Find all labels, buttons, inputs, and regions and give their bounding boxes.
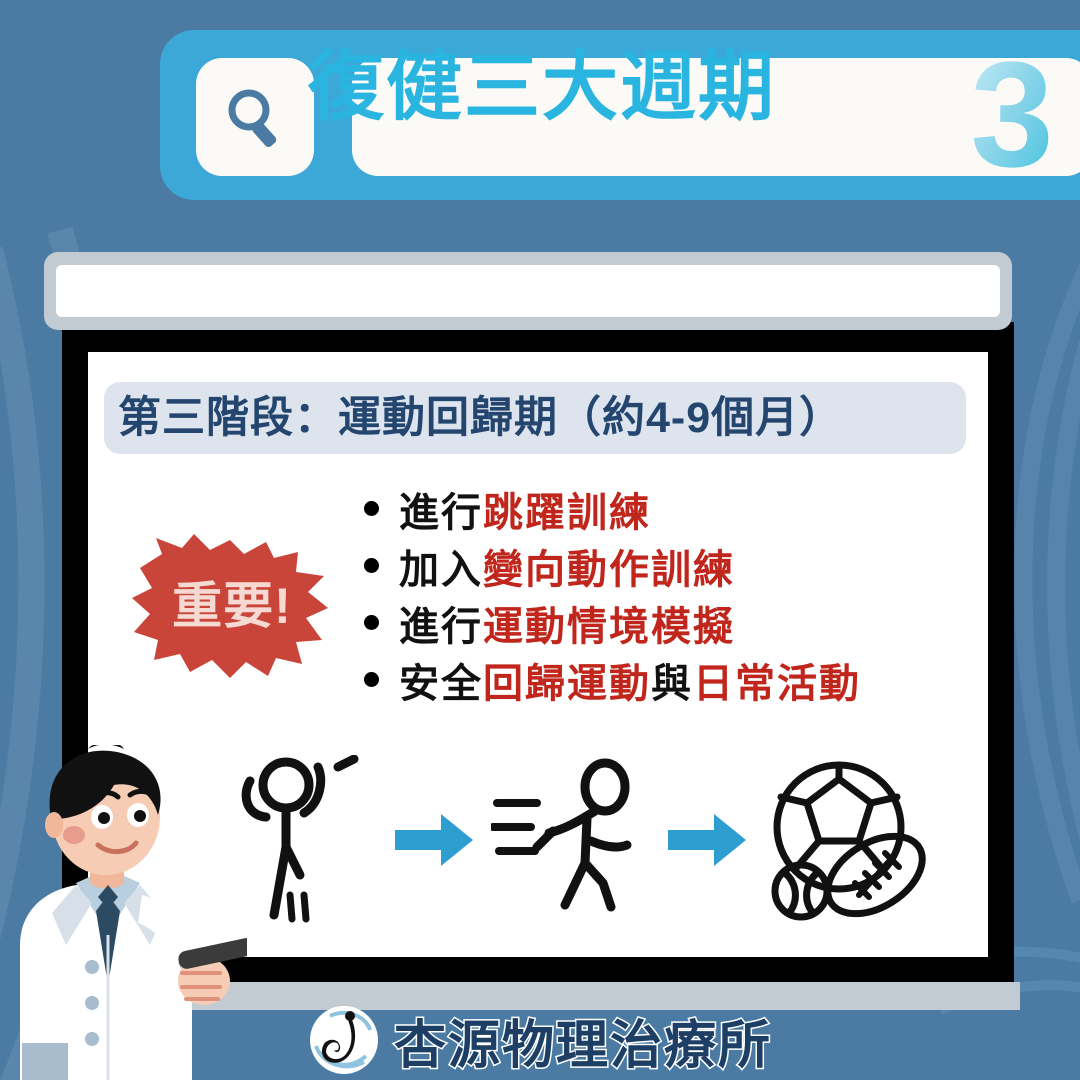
important-stamp: 重要! — [132, 532, 332, 680]
bullet-plain: 進行 — [399, 605, 483, 649]
list-item: 進行跳躍訓練 — [364, 480, 974, 537]
list-item: 加入變向動作訓練 — [364, 537, 974, 594]
bullet-dot-icon — [364, 672, 379, 687]
bullet-plain: 進行 — [399, 491, 483, 535]
stage-title: 第三階段：運動回歸期（約4-9個月） — [118, 382, 958, 454]
bullet-text: 進行運動情境模擬 — [399, 594, 735, 652]
bullet-text: 加入變向動作訓練 — [399, 537, 735, 595]
bullet-text: 安全回歸運動與日常活動 — [399, 651, 861, 709]
bullet-highlight: 回歸運動 — [483, 662, 651, 706]
bullet-dot-icon — [364, 558, 379, 573]
list-item: 安全回歸運動與日常活動 — [364, 651, 974, 708]
bullet-plain: 加入 — [399, 548, 483, 592]
header-number-text: 3 — [970, 42, 1053, 192]
bullet-list: 進行跳躍訓練 加入變向動作訓練 進行運動情境模擬 安全回歸運動與日常活動 — [364, 480, 974, 708]
running-person-icon — [491, 755, 651, 925]
sports-balls-icon — [763, 755, 928, 925]
bullet-highlight: 跳躍訓練 — [483, 491, 651, 535]
list-item: 進行運動情境模擬 — [364, 594, 974, 651]
pictogram-strip — [228, 750, 928, 930]
bullet-dot-icon — [364, 615, 379, 630]
bullet-plain: 安全 — [399, 662, 483, 706]
header-number-badge: 3 — [950, 42, 1080, 192]
clinic-name: 杏源物理治療所 — [394, 1003, 772, 1078]
bullet-highlight-2: 日常活動 — [693, 662, 861, 706]
arrow-right-icon — [666, 810, 748, 870]
arrow-right-icon — [393, 810, 475, 870]
header-title: 復健三大週期 — [232, 38, 852, 138]
footer: 杏源物理治療所 — [0, 1000, 1080, 1080]
whiteboard-top-rail — [44, 252, 1012, 330]
important-stamp-label: 重要! — [132, 532, 332, 680]
jumping-person-icon — [228, 755, 378, 925]
bullet-text: 進行跳躍訓練 — [399, 480, 651, 538]
clinic-swirl-logo — [308, 1004, 380, 1076]
bullet-highlight: 變向動作訓練 — [483, 548, 735, 592]
bullet-dot-icon — [364, 501, 379, 516]
bullet-plain-2: 與 — [651, 662, 693, 706]
bullet-highlight: 運動情境模擬 — [483, 605, 735, 649]
